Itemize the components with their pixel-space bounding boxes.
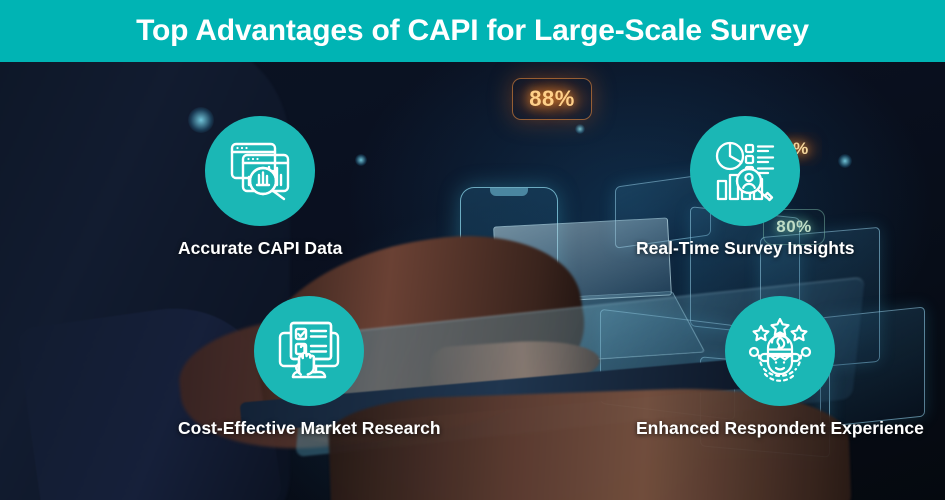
icon-circle-cost-effective-market-research[interactable]	[254, 296, 364, 406]
browser-windows-bar-chart-magnifier-icon	[226, 137, 294, 205]
advantage-label-accurate-capi-data: Accurate CAPI Data	[178, 238, 342, 259]
advantage-item-real-time-survey-insights[interactable]: Real-Time Survey Insights	[636, 116, 855, 259]
advantage-label-cost-effective-market-research: Cost-Effective Market Research	[178, 418, 441, 439]
bokeh-dot-2	[355, 154, 367, 166]
advantage-item-enhanced-respondent-experience[interactable]: Enhanced Respondent Experience	[636, 296, 924, 439]
bokeh-dot-4	[575, 124, 585, 134]
icon-circle-accurate-capi-data[interactable]	[205, 116, 315, 226]
advantage-label-enhanced-respondent-experience: Enhanced Respondent Experience	[636, 418, 924, 439]
percent-badge-88: 88%	[512, 78, 592, 120]
advantage-item-cost-effective-market-research[interactable]: Cost-Effective Market Research	[178, 296, 441, 439]
advantage-label-real-time-survey-insights: Real-Time Survey Insights	[636, 238, 855, 259]
header-banner: Top Advantages of CAPI for Large-Scale S…	[0, 0, 945, 62]
icon-circle-enhanced-respondent-experience[interactable]	[725, 296, 835, 406]
advantage-item-accurate-capi-data[interactable]: Accurate CAPI Data	[178, 116, 342, 259]
person-helmet-three-stars-icon	[745, 316, 815, 386]
infographic-canvas: 88% 3% 80% Top Advantages of CAPI for La…	[0, 0, 945, 500]
icon-circle-real-time-survey-insights[interactable]	[690, 116, 800, 226]
monitor-survey-form-hand-pointer-icon	[275, 317, 343, 385]
page-title: Top Advantages of CAPI for Large-Scale S…	[136, 14, 809, 48]
pie-chart-checklist-bar-chart-person-magnifier-icon	[711, 137, 779, 205]
phone-notch	[490, 188, 528, 196]
